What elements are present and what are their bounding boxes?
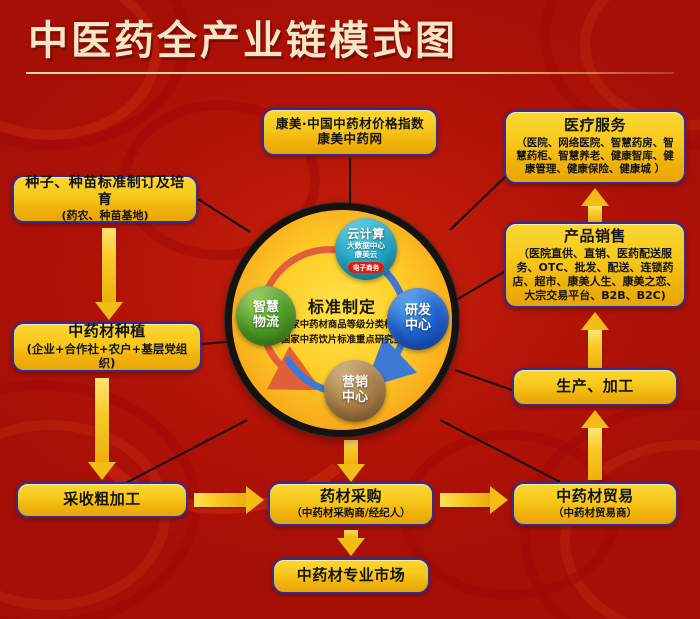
node-planting[interactable]: 中药材种植 (企业+合作社+农户+基层党组织) [12, 322, 202, 372]
orb-logistics-line-2: 物流 [253, 316, 279, 331]
node-price-index-title-1: 康美·中国中药材价格指数 [276, 117, 424, 132]
hub-circle: 标准制定 国家中药材商品等级分类标准 国家中药饮片标准重点研究室 云计算 大数据… [225, 203, 459, 437]
orb-cloud-ecommerce-badge: 电子商务 [348, 261, 384, 273]
node-planting-title: 中药材种植 [68, 323, 146, 341]
arrow-planting-to-harvest [88, 378, 116, 480]
orb-logistics-line-1: 智慧 [253, 301, 279, 316]
orb-marketing-center[interactable]: 营销 中心 [324, 360, 386, 422]
node-sales-sub: （医院直供、直销、医药配送服务、OTC、批发、配送、连锁药店、超市、康美人生、康… [512, 247, 678, 302]
node-seed-standard[interactable]: 种子、种苗标准制订及培育 (药农、种苗基地) [12, 175, 198, 223]
arrow-sales-to-medical [581, 188, 609, 222]
title-divider [26, 72, 674, 74]
arrow-seed-to-planting [95, 228, 123, 320]
node-production-title: 生产、加工 [556, 378, 634, 396]
node-sales-title: 产品销售 [564, 228, 626, 246]
node-planting-sub: (企业+合作社+农户+基层党组织) [20, 342, 194, 371]
infographic-canvas: 中医药全产业链模式图 康美·中国中药材价格指数 [0, 0, 700, 619]
arrow-hub-to-purchase [337, 440, 365, 482]
arrow-purchase-to-market [337, 530, 365, 556]
node-purchase-sub: （中药材采购商/经纪人） [291, 507, 410, 520]
node-medical-service-sub: （医院、网络医院、智慧药房、智慧药柜、智慧养老、健康智库、健康管理、健康保险、健… [512, 137, 678, 176]
orb-cloud-line-1: 云计算 [347, 225, 385, 242]
node-harvest[interactable]: 采收粗加工 [16, 482, 188, 518]
page-title: 中医药全产业链模式图 [28, 8, 458, 66]
orb-smart-logistics[interactable]: 智慧 物流 [236, 286, 296, 346]
node-medical-service[interactable]: 医疗服务 （医院、网络医院、智慧药房、智慧药柜、智慧养老、健康智库、健康管理、健… [504, 110, 686, 184]
node-medical-service-title: 医疗服务 [564, 117, 626, 135]
node-sales[interactable]: 产品销售 （医院直供、直销、医药配送服务、OTC、批发、配送、连锁药店、超市、康… [504, 222, 686, 308]
node-market-title: 中药材专业市场 [297, 567, 406, 585]
orb-cloud-computing[interactable]: 云计算 大数据中心 康美云 电子商务 [335, 218, 397, 280]
orb-cloud-line-3: 康美云 [355, 251, 378, 260]
orb-rd-center[interactable]: 研发 中心 [387, 288, 449, 350]
orb-marketing-line-1: 营销 [342, 376, 368, 391]
arrow-production-to-sales [581, 312, 609, 368]
node-seed-standard-title: 种子、种苗标准制订及培育 [20, 175, 190, 208]
node-trade[interactable]: 中药材贸易 （中药材贸易商） [512, 482, 678, 526]
node-purchase-title: 药材采购 [320, 488, 382, 506]
node-seed-standard-sub: (药农、种苗基地) [61, 209, 148, 223]
node-trade-sub: （中药材贸易商） [553, 507, 637, 520]
node-trade-title: 中药材贸易 [556, 488, 634, 506]
arrow-harvest-to-purchase [194, 486, 264, 514]
title-bar: 中医药全产业链模式图 [0, 0, 700, 82]
orb-rd-line-2: 中心 [405, 319, 431, 334]
orb-rd-line-1: 研发 [405, 304, 431, 319]
arrow-trade-to-production [581, 410, 609, 480]
node-production[interactable]: 生产、加工 [512, 368, 678, 406]
node-price-index-title-2: 康美中药网 [317, 132, 382, 147]
node-harvest-title: 采收粗加工 [63, 491, 141, 509]
node-price-index[interactable]: 康美·中国中药材价格指数 康美中药网 [262, 108, 438, 156]
arrow-purchase-to-trade [440, 486, 508, 514]
node-market[interactable]: 中药材专业市场 [272, 558, 430, 594]
orb-marketing-line-2: 中心 [342, 391, 368, 406]
node-purchase[interactable]: 药材采购 （中药材采购商/经纪人） [268, 482, 434, 526]
